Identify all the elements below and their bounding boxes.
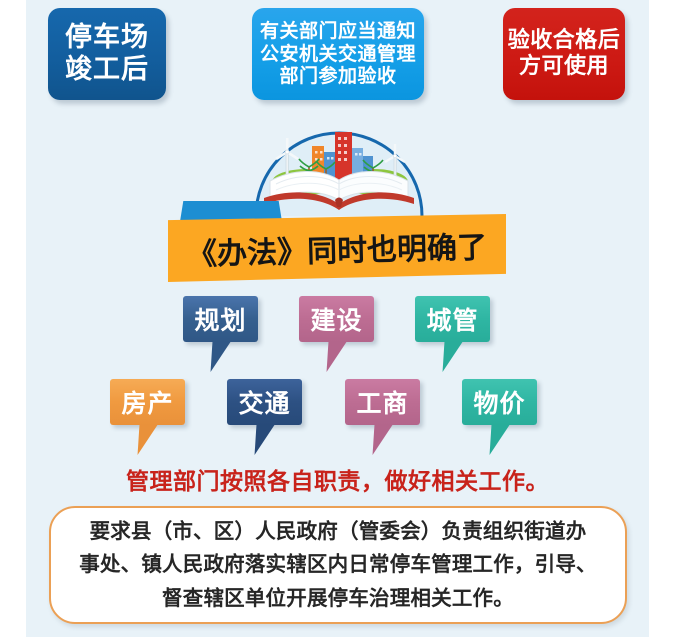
bottom-note-box: 要求县（市、区）人民政府（管委会）负责组织街道办 事处、镇人民政府落实辖区内日常…: [49, 506, 627, 624]
tag-transportation-tail-icon: [246, 425, 275, 455]
bottom-note-line-3: 督查辖区单位开展停车治理相关工作。: [162, 582, 514, 615]
banner-title: 《办法》同时也明确了: [167, 210, 507, 286]
header-box-after-acceptance: 验收合格后 方可使用: [503, 8, 625, 100]
tag-planning[interactable]: 规划: [183, 296, 258, 342]
header-box-parking-completion: 停车场 竣工后: [48, 8, 166, 100]
tag-price-bureau-label: 物价: [473, 384, 525, 420]
header-box-3-text: 验收合格后 方可使用: [508, 28, 621, 80]
tag-transportation[interactable]: 交通: [227, 379, 302, 425]
header-box-3-line-1: 验收合格后: [508, 28, 621, 54]
left-margin: [0, 0, 26, 637]
header-box-2-line-2: 公安机关交通管理: [260, 43, 416, 65]
header-box-1-line-1: 停车场: [65, 22, 149, 54]
right-margin: [649, 0, 675, 637]
emphasis-text: 管理部门按照各自职责，做好相关工作。: [0, 462, 675, 496]
tag-commerce-tail-icon: [364, 425, 393, 455]
tag-urban-management[interactable]: 城管: [415, 296, 490, 342]
tag-price-bureau-tail-icon: [481, 425, 510, 455]
tag-construction-tail-icon: [318, 342, 347, 372]
tag-commerce-label: 工商: [356, 384, 408, 420]
tag-real-estate[interactable]: 房产: [110, 379, 185, 425]
tag-construction-label: 建设: [310, 301, 362, 337]
tag-urban-management-tail-icon: [434, 342, 463, 372]
tag-price-bureau[interactable]: 物价: [462, 379, 537, 425]
tag-planning-tail-icon: [202, 342, 231, 372]
header-box-3-line-2: 方可使用: [508, 54, 621, 80]
header-box-2-line-1: 有关部门应当通知: [260, 20, 416, 42]
tag-transportation-label: 交通: [238, 384, 290, 420]
bottom-note-line-1: 要求县（市、区）人民政府（管委会）负责组织街道办: [90, 515, 587, 548]
tag-construction[interactable]: 建设: [299, 296, 374, 342]
header-box-1-line-2: 竣工后: [65, 54, 149, 86]
header-box-1-text: 停车场 竣工后: [65, 22, 149, 86]
banner-group: 《办法》同时也明确了: [168, 200, 508, 290]
tag-commerce[interactable]: 工商: [345, 379, 420, 425]
tag-real-estate-label: 房产: [121, 384, 173, 420]
tag-planning-label: 规划: [194, 301, 246, 337]
tag-urban-management-label: 城管: [426, 301, 478, 337]
header-box-2-text: 有关部门应当通知 公安机关交通管理 部门参加验收: [260, 20, 416, 87]
infographic-canvas: 停车场 竣工后 有关部门应当通知 公安机关交通管理 部门参加验收 验收合格后 方…: [0, 0, 675, 637]
tag-real-estate-tail-icon: [129, 425, 158, 455]
bottom-note-line-2: 事处、镇人民政府落实辖区内日常停车管理工作，引导、: [79, 548, 597, 581]
header-box-2-line-3: 部门参加验收: [260, 65, 416, 87]
header-box-notify-authorities: 有关部门应当通知 公安机关交通管理 部门参加验收: [252, 8, 424, 100]
